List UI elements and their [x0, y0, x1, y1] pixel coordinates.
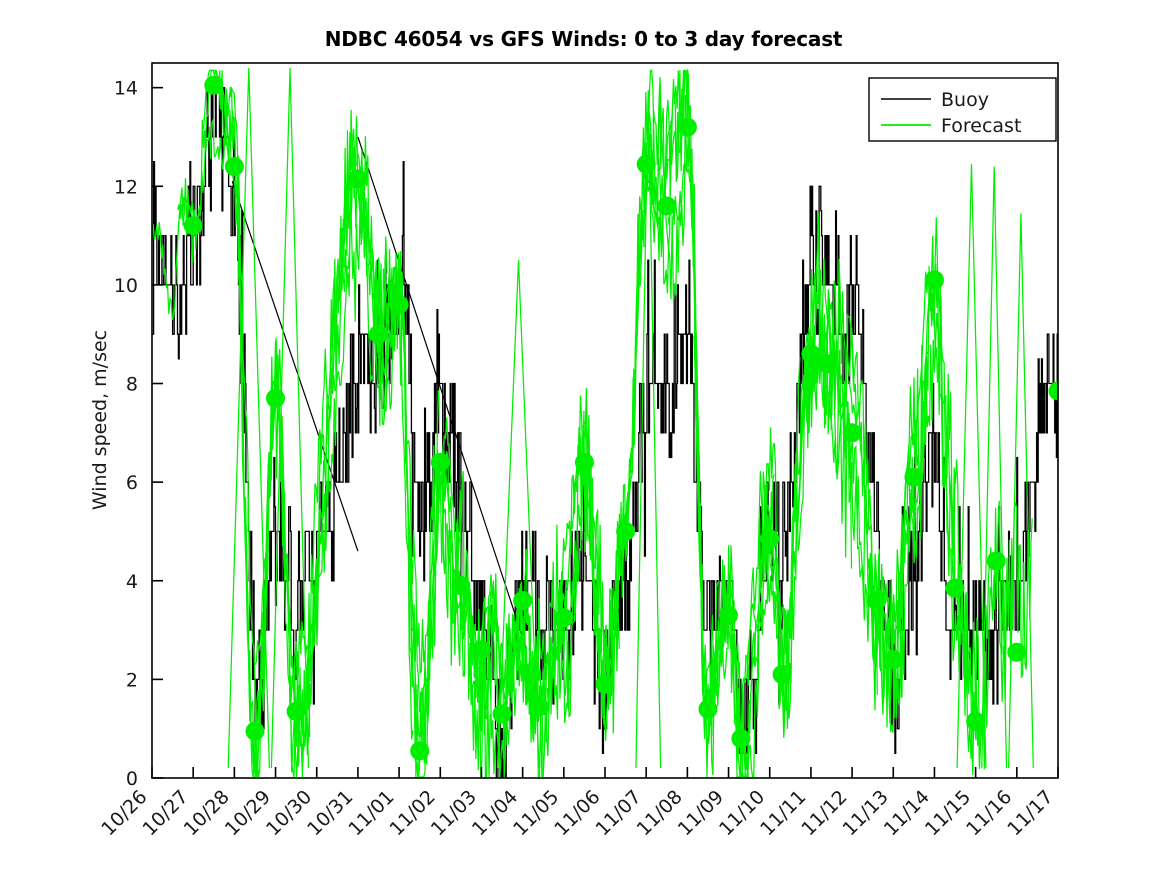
- forecast-marker: [678, 118, 697, 137]
- forecast-marker: [1007, 643, 1026, 662]
- forecast-marker: [472, 640, 491, 659]
- x-tick-label: 11/11: [756, 786, 810, 840]
- forecast-marker: [575, 453, 594, 472]
- forecast-marker: [348, 169, 367, 188]
- y-tick-label: 14: [114, 78, 138, 100]
- x-tick-label: 10/31: [303, 786, 357, 840]
- forecast-marker: [925, 271, 944, 290]
- forecast-marker: [818, 354, 837, 373]
- legend-label-buoy: Buoy: [941, 89, 989, 111]
- forecast-marker: [530, 697, 549, 716]
- forecast-marker: [369, 325, 388, 344]
- x-tick-label: 11/09: [674, 786, 728, 840]
- x-tick-label: 11/02: [386, 786, 440, 840]
- y-axis-label: Wind speed, m/sec: [89, 330, 111, 510]
- x-tick-label: 10/30: [262, 786, 316, 840]
- forecast-markers: [184, 76, 1068, 761]
- x-tick-label: 11/14: [880, 786, 934, 840]
- x-tick-label: 11/15: [921, 786, 975, 840]
- forecast-marker: [184, 216, 203, 235]
- x-tick-label: 11/03: [427, 786, 481, 840]
- x-tick-label: 11/01: [344, 786, 398, 840]
- x-tick-label: 11/06: [550, 786, 604, 840]
- forecast-marker: [431, 453, 450, 472]
- y-tick-label: 2: [126, 669, 138, 691]
- y-axis-ticks: 02468101214: [114, 78, 163, 790]
- x-tick-label: 11/17: [1003, 786, 1057, 840]
- x-tick-label: 11/07: [591, 786, 645, 840]
- x-tick-label: 10/28: [180, 786, 234, 840]
- forecast-marker: [773, 665, 792, 684]
- forecast-marker: [287, 702, 306, 721]
- forecast-marker: [596, 675, 615, 694]
- buoy-gap-segment: [232, 181, 358, 551]
- forecast-marker: [719, 606, 738, 625]
- forecast-marker: [246, 722, 265, 741]
- y-tick-label: 10: [114, 275, 138, 297]
- forecast-marker: [843, 423, 862, 442]
- forecast-marker: [266, 389, 285, 408]
- forecast-marker: [225, 157, 244, 176]
- forecast-marker: [731, 729, 750, 748]
- x-tick-label: 11/05: [509, 786, 563, 840]
- forecast-marker: [616, 522, 635, 541]
- forecast-marker: [801, 344, 820, 363]
- forecast-marker: [884, 650, 903, 669]
- forecast-marker: [699, 700, 718, 719]
- x-tick-label: 11/04: [468, 786, 522, 840]
- forecast-marker: [657, 197, 676, 216]
- x-tick-label: 11/10: [715, 786, 769, 840]
- x-tick-label: 11/16: [962, 786, 1016, 840]
- x-tick-label: 10/29: [221, 786, 275, 840]
- forecast-marker: [904, 468, 923, 487]
- forecast-marker: [966, 712, 985, 731]
- forecast-marker: [204, 76, 223, 95]
- forecast-line: [513, 170, 645, 728]
- forecast-marker: [867, 591, 886, 610]
- x-tick-label: 11/13: [839, 786, 893, 840]
- chart-legend: Buoy Forecast: [869, 78, 1056, 141]
- y-tick-label: 8: [126, 374, 138, 396]
- forecast-series: [152, 68, 1033, 777]
- forecast-marker: [637, 155, 656, 174]
- forecast-marker: [513, 591, 532, 610]
- forecast-marker: [410, 741, 429, 760]
- forecast-marker: [493, 704, 512, 723]
- forecast-marker: [946, 579, 965, 598]
- y-tick-label: 6: [126, 472, 138, 494]
- forecast-marker: [451, 576, 470, 595]
- x-tick-label: 11/12: [797, 786, 851, 840]
- figure-container: NDBC 46054 vs GFS Winds: 0 to 3 day fore…: [0, 0, 1167, 875]
- legend-label-forecast: Forecast: [941, 115, 1021, 137]
- x-tick-label: 10/26: [97, 786, 151, 840]
- y-tick-label: 4: [126, 571, 138, 593]
- x-tick-label: 11/08: [633, 786, 687, 840]
- y-tick-label: 12: [114, 176, 138, 198]
- forecast-marker: [760, 529, 779, 548]
- forecast-marker: [554, 608, 573, 627]
- chart-plot: 02468101214 10/2610/2710/2810/2910/3010/…: [0, 0, 1167, 875]
- forecast-marker: [390, 295, 409, 314]
- x-tick-label: 10/27: [138, 786, 192, 840]
- forecast-marker: [987, 552, 1006, 571]
